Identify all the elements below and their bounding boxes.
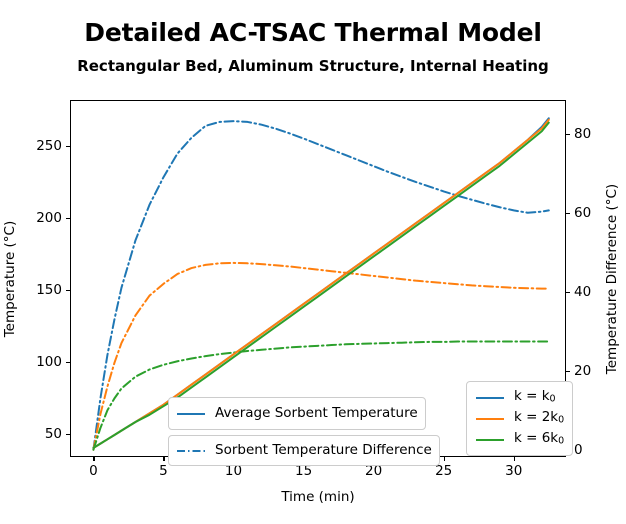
x-tick-mark [93,456,94,461]
x-tick-mark [444,456,445,461]
legend-item-6k0: k = 6k0 [475,429,564,450]
y-left-tick-label: 50 [45,426,62,442]
x-tick-mark [163,456,164,461]
chart-root: Detailed AC-TSAC Thermal Model Rectangul… [0,0,626,524]
legend-label-k0: k = k0 [514,390,556,404]
legend-item: Average Sorbent Temperature [176,402,418,425]
legend-label-sorbent-temperature-difference: Sorbent Temperature Difference [215,444,432,458]
y-right-tick-label: 0 [574,442,583,458]
y-right-tick-mark [565,292,570,293]
y-left-tick-label: 100 [36,354,62,370]
legend-conductivity: k = k0 k = 2k0 k = 6k0 [466,381,573,456]
y-right-tick-label: 60 [574,205,591,221]
legend-label-6k0-sub: 0 [558,436,564,447]
legend-line-style-solid: Average Sorbent Temperature [168,397,426,430]
legend-label-average-sorbent-temperature: Average Sorbent Temperature [215,407,418,421]
y-left-tick-mark [66,146,71,147]
y-left-tick-label: 150 [36,282,62,298]
legend-swatch-solid-icon [176,407,206,421]
y-left-tick-mark [66,362,71,363]
legend-swatch-6k0-icon [475,433,505,447]
y-left-tick-mark [66,218,71,219]
y-left-tick-mark [66,290,71,291]
x-tick-label: 30 [505,463,522,479]
y-right-tick-mark [565,213,570,214]
y-axis-left-title: Temperature (°C) [2,221,18,338]
legend-label-2k0: k = 2k0 [514,411,564,425]
x-tick-label: 5 [159,463,168,479]
legend-label-6k0: k = 6k0 [514,432,564,446]
legend-label-2k0-sub: 0 [558,415,564,426]
legend-label-2k0-text: k = 2k [514,409,558,425]
legend-swatch-2k0-icon [475,412,505,426]
x-tick-label: 0 [89,463,98,479]
y-right-tick-label: 80 [574,126,591,142]
y-left-tick-mark [66,434,71,435]
chart-subtitle: Rectangular Bed, Aluminum Structure, Int… [0,57,626,75]
x-tick-mark [514,456,515,461]
legend-item: Sorbent Temperature Difference [176,440,432,461]
legend-swatch-k0-icon [475,391,505,405]
legend-item-k0: k = k0 [475,387,564,408]
legend-label-6k0-text: k = 6k [514,430,558,446]
y-axis-right-title: Temperature Difference (°C) [604,184,620,374]
legend-label-k0-text: k = k [514,388,550,404]
y-left-tick-label: 250 [36,138,62,154]
y-left-tick-label: 200 [36,210,62,226]
x-axis-title: Time (min) [281,489,354,505]
legend-swatch-dashdot-icon [176,444,206,458]
y-right-tick-label: 40 [574,284,591,300]
y-right-tick-mark [565,134,570,135]
chart-title: Detailed AC-TSAC Thermal Model [0,18,626,47]
y-right-tick-mark [565,371,570,372]
legend-item-2k0: k = 2k0 [475,408,564,429]
y-right-tick-label: 20 [574,363,591,379]
legend-line-style-dashdot: Sorbent Temperature Difference [168,435,440,466]
legend-label-k0-sub: 0 [550,394,556,405]
